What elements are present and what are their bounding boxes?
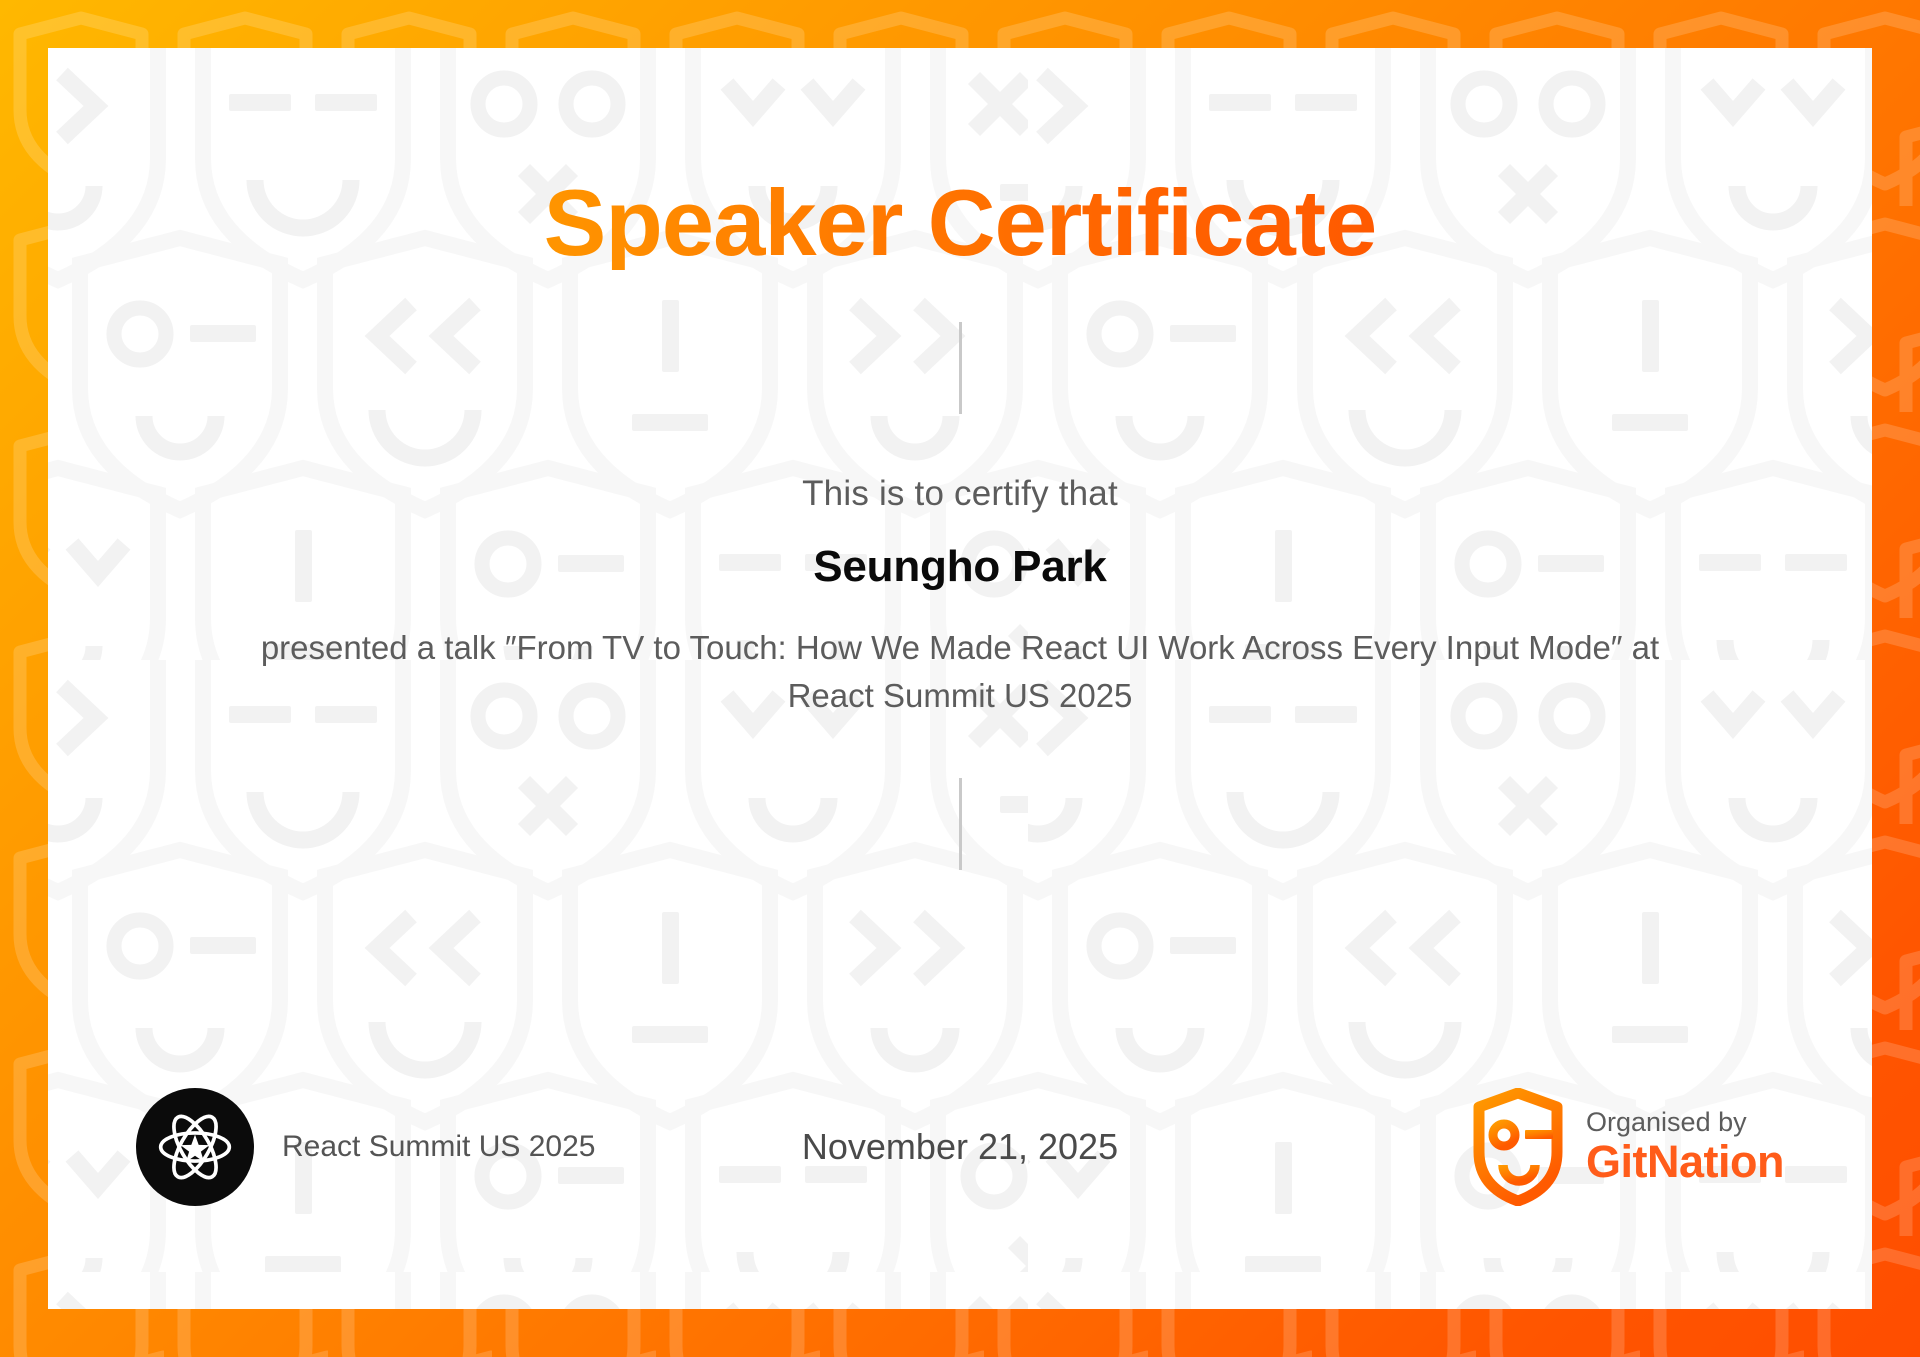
organiser-name: GitNation bbox=[1586, 1137, 1784, 1187]
certificate-body: This is to certify that Seungho Park pre… bbox=[210, 474, 1710, 720]
gitnation-shield-face-icon bbox=[1472, 1088, 1564, 1206]
speaker-certificate: Speaker Certificate This is to certify t… bbox=[0, 0, 1920, 1357]
talk-description: presented a talk ″From TV to Touch: How … bbox=[230, 624, 1690, 720]
certify-line: This is to certify that bbox=[210, 474, 1710, 514]
recipient-name: Seungho Park bbox=[210, 542, 1710, 592]
organised-by-label: Organised by bbox=[1586, 1107, 1784, 1137]
certificate-footer: React Summit US 2025 November 21, 2025 bbox=[48, 1081, 1872, 1213]
issue-date: November 21, 2025 bbox=[802, 1126, 1118, 1167]
organiser-text-block: Organised by GitNation bbox=[1586, 1107, 1784, 1188]
divider-top bbox=[959, 322, 962, 414]
footer-organiser: Organised by GitNation bbox=[1472, 1088, 1784, 1206]
divider-bottom bbox=[959, 778, 962, 870]
page-title: Speaker Certificate bbox=[544, 176, 1377, 270]
certificate-card: Speaker Certificate This is to certify t… bbox=[48, 48, 1872, 1309]
